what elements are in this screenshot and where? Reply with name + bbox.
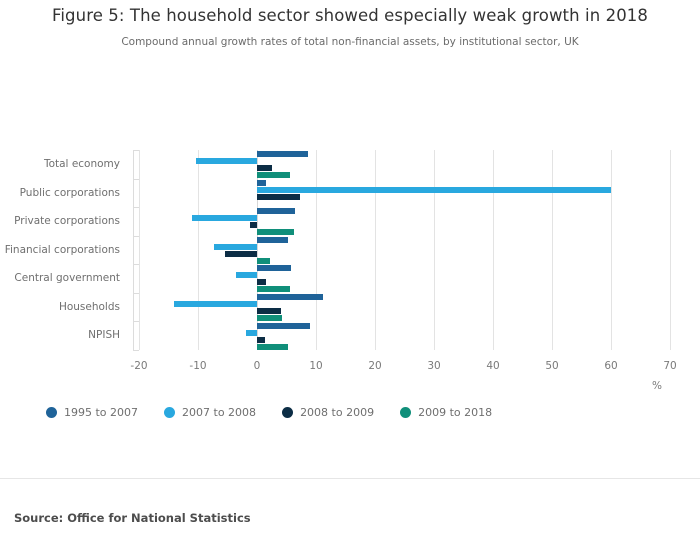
gridline-70: [670, 150, 671, 350]
bar[interactable]: [257, 172, 290, 178]
bar[interactable]: [250, 222, 257, 228]
plot-area: [139, 150, 670, 350]
x-axis-tick-label: 10: [309, 360, 322, 372]
legend-label: 2009 to 2018: [418, 406, 492, 419]
legend-label: 2008 to 2009: [300, 406, 374, 419]
x-axis-unit-label: %: [652, 380, 662, 392]
bar[interactable]: [192, 215, 257, 221]
x-axis-tick-label: 40: [486, 360, 499, 372]
x-axis-tick-label: 70: [663, 360, 676, 372]
chart-legend: 1995 to 20072007 to 20082008 to 20092009…: [46, 406, 518, 419]
bar[interactable]: [236, 272, 257, 278]
bar[interactable]: [257, 308, 281, 314]
bar-group: [139, 236, 670, 265]
bar[interactable]: [257, 229, 294, 235]
bar-group: [139, 150, 670, 179]
bar[interactable]: [225, 251, 257, 257]
bar[interactable]: [214, 244, 257, 250]
chart-subtitle: Compound annual growth rates of total no…: [0, 36, 700, 48]
legend-item[interactable]: 2008 to 2009: [282, 406, 374, 419]
bar[interactable]: [257, 294, 323, 300]
x-axis-tick-label: -20: [130, 360, 147, 372]
y-axis-labels: Total economyPublic corporationsPrivate …: [0, 150, 128, 350]
bar[interactable]: [257, 180, 266, 186]
bar-group: [139, 179, 670, 208]
bar-group: [139, 321, 670, 350]
y-axis-label-npish: NPISH: [88, 321, 120, 350]
y-axis-label-financial-corporations: Financial corporations: [5, 236, 120, 265]
bar[interactable]: [257, 286, 290, 292]
x-axis-tick-label: 60: [604, 360, 617, 372]
bar[interactable]: [257, 165, 272, 171]
x-axis-tick-label: 50: [545, 360, 558, 372]
legend-swatch-icon: [400, 407, 411, 418]
bar[interactable]: [257, 323, 310, 329]
legend-item[interactable]: 2007 to 2008: [164, 406, 256, 419]
legend-label: 2007 to 2008: [182, 406, 256, 419]
bar[interactable]: [257, 151, 308, 157]
bar[interactable]: [257, 187, 611, 193]
x-axis-tick-label: -10: [189, 360, 206, 372]
chart-title: Figure 5: The household sector showed es…: [0, 6, 700, 25]
bar[interactable]: [257, 258, 270, 264]
legend-swatch-icon: [282, 407, 293, 418]
bar[interactable]: [257, 279, 266, 285]
bar[interactable]: [257, 208, 295, 214]
legend-swatch-icon: [46, 407, 57, 418]
y-axis-label-households: Households: [59, 293, 120, 322]
bar-group: [139, 293, 670, 322]
y-axis-label-central-government: Central government: [14, 264, 120, 293]
y-axis-line: [133, 150, 134, 350]
bar[interactable]: [196, 158, 257, 164]
y-axis-label-total-economy: Total economy: [44, 150, 120, 179]
bar[interactable]: [257, 194, 300, 200]
bar[interactable]: [257, 337, 265, 343]
x-axis-tick-label: 0: [254, 360, 261, 372]
x-axis-tick-label: 20: [368, 360, 381, 372]
legend-label: 1995 to 2007: [64, 406, 138, 419]
bar[interactable]: [257, 265, 291, 271]
y-axis-label-public-corporations: Public corporations: [20, 179, 120, 208]
x-axis-tick-label: 30: [427, 360, 440, 372]
y-axis-label-private-corporations: Private corporations: [14, 207, 120, 236]
bar-group: [139, 264, 670, 293]
bar-group: [139, 207, 670, 236]
bar[interactable]: [257, 315, 282, 321]
source-note: Source: Office for National Statistics: [14, 511, 251, 525]
bar[interactable]: [246, 330, 257, 336]
bar[interactable]: [257, 237, 288, 243]
legend-item[interactable]: 2009 to 2018: [400, 406, 492, 419]
legend-item[interactable]: 1995 to 2007: [46, 406, 138, 419]
bar[interactable]: [257, 344, 288, 350]
y-axis-tick: [133, 350, 139, 351]
bar[interactable]: [174, 301, 257, 307]
legend-swatch-icon: [164, 407, 175, 418]
footer-divider: [0, 478, 700, 479]
